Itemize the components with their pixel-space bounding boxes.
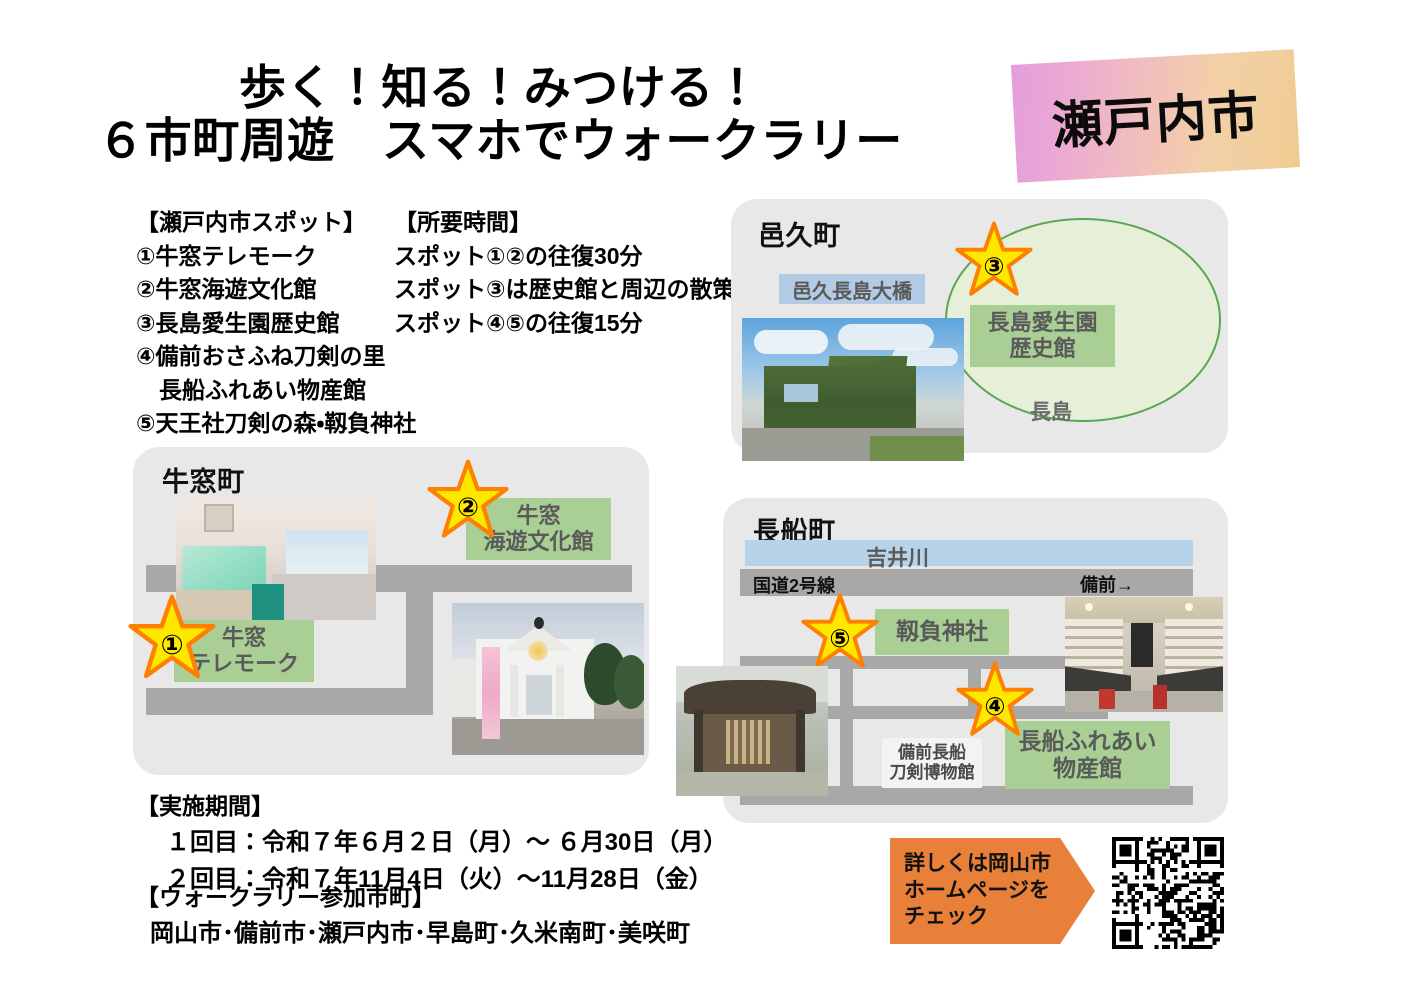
oku-spot-label-line2: 歴史館	[1009, 336, 1075, 362]
star-marker-5: ⑤	[801, 594, 879, 672]
oku-bridge-label: 邑久長島大橋	[792, 275, 912, 304]
ushimado-spot2-label-line1: 牛窓	[516, 503, 560, 529]
schedule-line-1: １回目：令和７年６月２日（月）～ ６月30日（月）	[136, 824, 776, 861]
spot-list-item-1: ①牛窓テレモーク	[136, 240, 406, 274]
towns-heading: 【ウォークラリー参加市町】	[136, 880, 796, 915]
panel-title-oku: 邑久町	[758, 214, 841, 253]
osafune-sword-museum-line1: 備前長船	[898, 743, 966, 763]
qr-code[interactable]	[1112, 837, 1224, 949]
participating-towns-block: 【ウォークラリー参加市町】 岡山市･備前市･瀬戸内市･早島町･久米南町･美咲町	[136, 880, 796, 953]
title-line-2: ６市町周遊 スマホでウォークラリー	[0, 115, 1000, 168]
osafune-river	[745, 540, 1193, 566]
osafune-shrine-label-box: 靱負神社	[875, 609, 1009, 655]
star-marker-4: ④	[956, 662, 1034, 740]
oku-spot-label-line1: 長島愛生園	[987, 310, 1097, 336]
title-line-1: 歩く！知る！みつける！	[0, 62, 1000, 115]
spot-list-item-5: ⑤天王社刀剣の森・靱負神社	[136, 407, 406, 441]
oku-bridge-label-box: 邑久長島大橋	[779, 274, 925, 304]
osafune-river-label: 吉井川	[866, 542, 929, 572]
oku-island-label: 長島	[1030, 396, 1072, 426]
osafune-road-v1	[840, 656, 853, 805]
towns-line: 岡山市･備前市･瀬戸内市･早島町･久米南町･美咲町	[136, 915, 796, 953]
osafune-shrine-label: 靱負神社	[896, 618, 988, 645]
ushimado-road-bottom	[146, 688, 433, 715]
oku-spot-label-box: 長島愛生園 歴史館	[970, 305, 1115, 367]
ushimado-kaiyu-bunkakan-photo	[452, 603, 644, 755]
duration-heading: 【所要時間】	[394, 206, 744, 240]
cta-line-3: チェック	[904, 904, 1095, 931]
cta-line-2: ホームページを	[904, 878, 1095, 905]
ushimado-spot1-label-line1: 牛窓	[222, 625, 266, 651]
spot-list-heading: 【瀬戸内市スポット】	[136, 206, 406, 240]
duration-item-1: スポット①②の往復30分	[394, 240, 744, 274]
poster-title: 歩く！知る！みつける！ ６市町周遊 スマホでウォークラリー	[0, 62, 1000, 167]
duration-item-3: スポット④⑤の往復15分	[394, 307, 744, 341]
star-marker-1: ①	[128, 595, 216, 683]
star-marker-2: ②	[427, 460, 509, 542]
cta-line-1: 詳しくは岡山市	[904, 851, 1095, 878]
osafune-sword-museum-label-box: 備前長船 刀剣博物館	[882, 738, 982, 788]
bizen-osafune-sword-museum-interior-photo	[1065, 597, 1223, 712]
osafune-sword-museum-line2: 刀剣博物館	[890, 763, 975, 783]
ushimado-road-vertical	[406, 592, 433, 688]
schedule-heading: 【実施期間】	[136, 789, 776, 824]
nagashima-aiseien-history-museum-photo	[742, 318, 964, 461]
osafune-bussankan-line2: 物産館	[1053, 755, 1122, 782]
cta-arrow-banner[interactable]: 詳しくは岡山市 ホームページを チェック	[890, 838, 1095, 944]
spot-list-item-2: ②牛窓海遊文化館	[136, 273, 406, 307]
panel-title-ushimado: 牛窓町	[162, 460, 245, 499]
duration-item-2: スポット③は歴史館と周辺の散策	[394, 273, 744, 307]
city-badge: 瀬戸内市	[1011, 49, 1300, 183]
spot-list: 【瀬戸内市スポット】 ①牛窓テレモーク ②牛窓海遊文化館 ③長島愛生園歴史館 ④…	[136, 206, 406, 441]
spot-list-item-3: ③長島愛生園歴史館	[136, 307, 406, 341]
city-badge-label: 瀬戸内市	[1050, 73, 1262, 159]
tenno-sha-shrine-photo	[676, 666, 828, 796]
osafune-direction-label: 備前→	[1080, 571, 1134, 597]
spot-list-item-4: ④備前おさふね刀剣の里	[136, 340, 406, 374]
spot-list-item-4b: 長船ふれあい物産館	[136, 374, 406, 408]
star-marker-3: ③	[955, 222, 1033, 300]
duration-list: 【所要時間】 スポット①②の往復30分 スポット③は歴史館と周辺の散策 スポット…	[394, 206, 744, 340]
osafune-bussankan-line1: 長船ふれあい	[1019, 728, 1157, 755]
